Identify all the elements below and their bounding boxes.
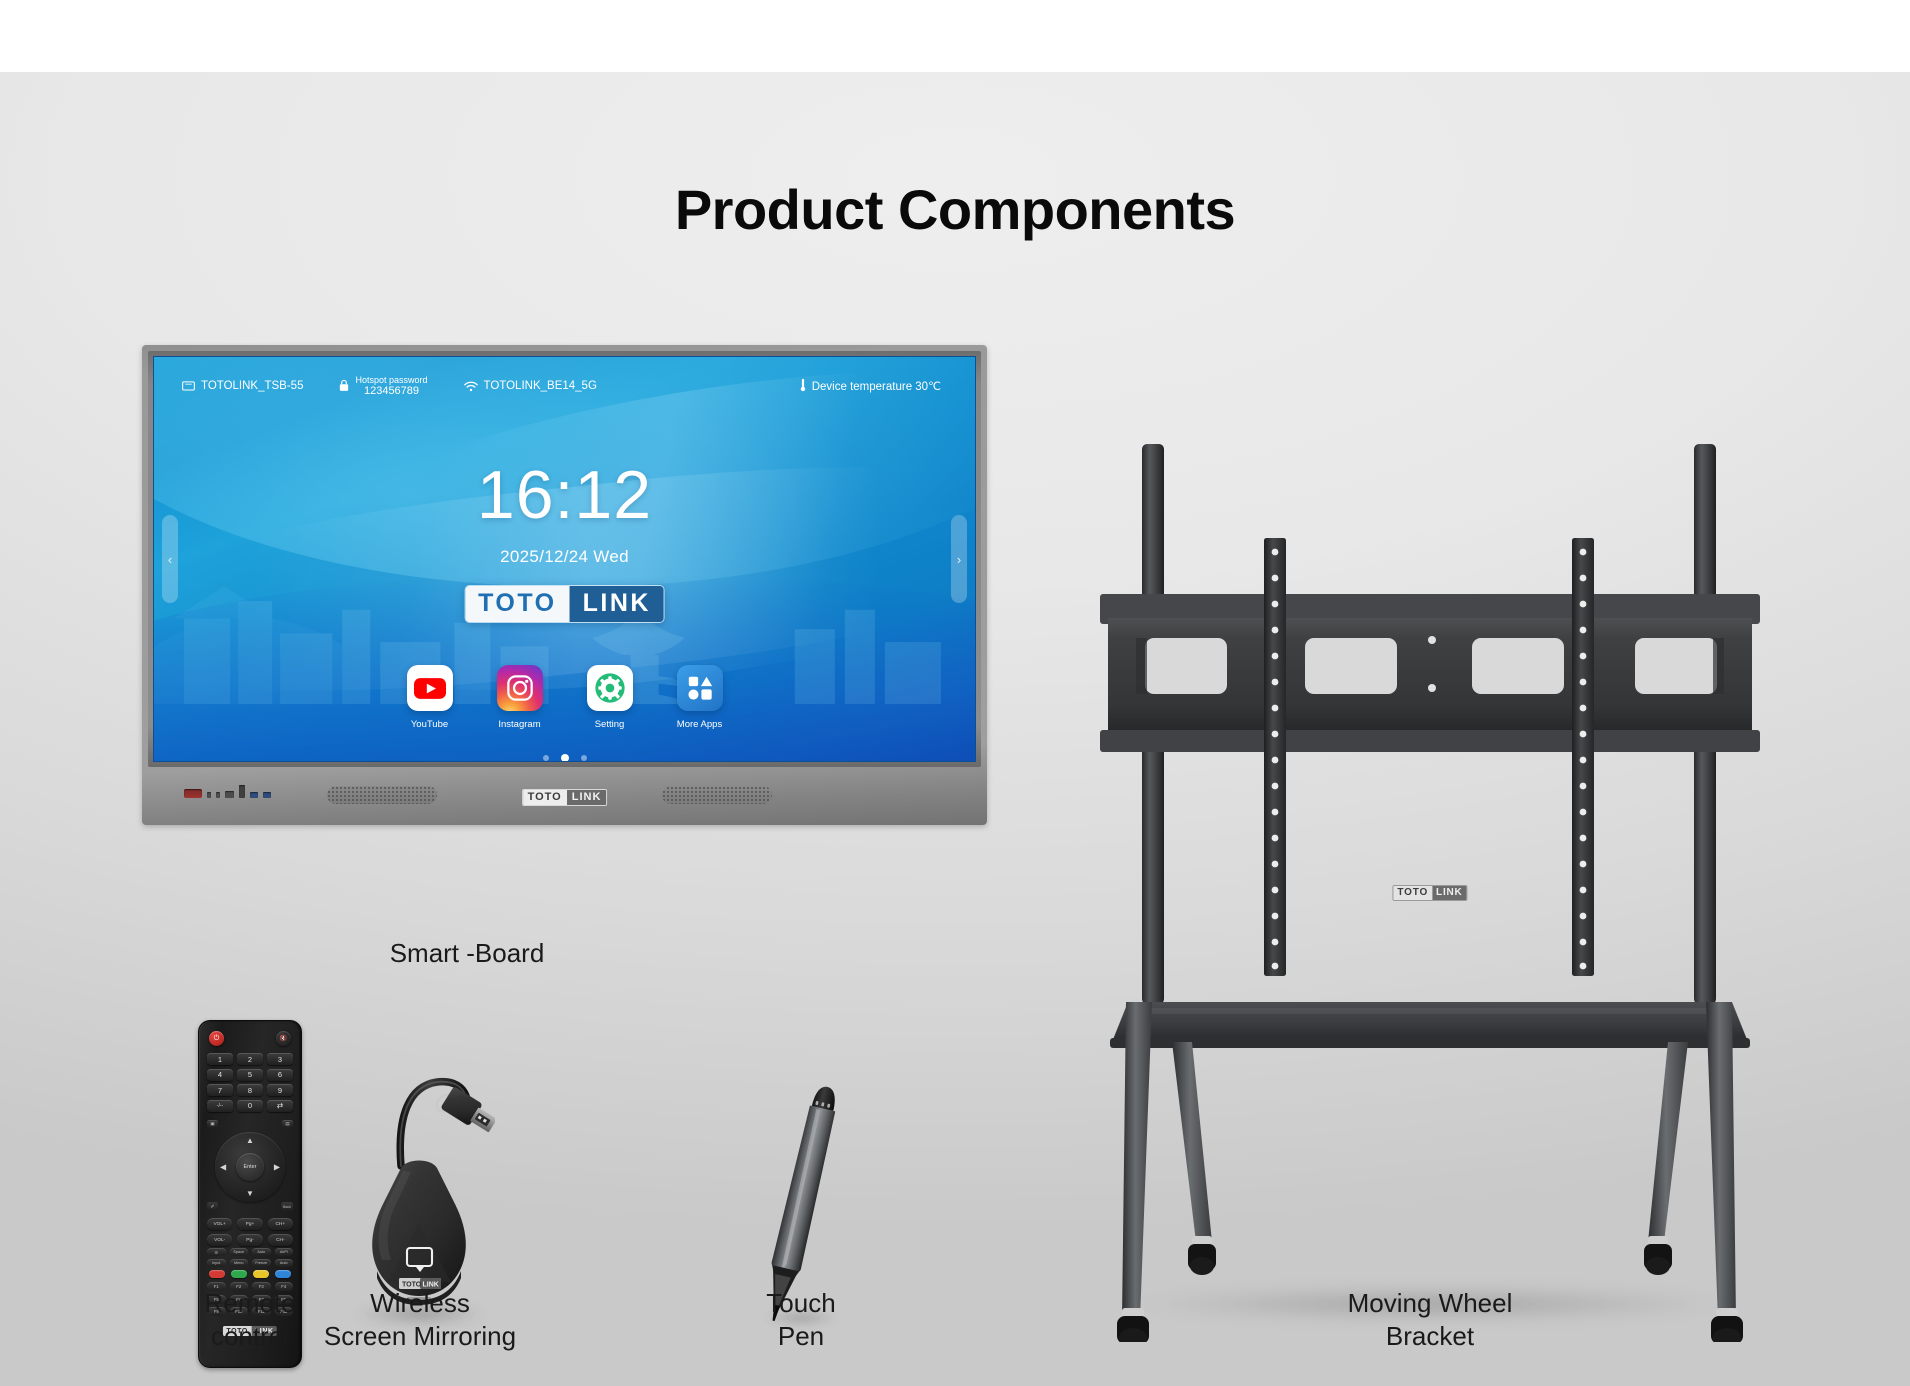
usb-port-2 [263,792,271,798]
bezel-logo-toto: TOTO [523,790,567,805]
wifi-icon [464,381,478,392]
remote-key-3[interactable]: 3 [267,1053,293,1065]
app-setting[interactable]: Setting [579,665,641,730]
remote-key-0[interactable]: 0 [237,1100,263,1112]
page-title: Product Components [0,177,1910,242]
chevron-right-icon: › [957,552,961,567]
remote-page-down[interactable]: Pg- [237,1234,262,1246]
moving-wheel-bracket-device: TOTO LINK [1100,442,1760,1342]
status-wifi: TOTOLINK_BE14_5G [464,380,597,392]
bracket-leg-back-right [1706,1002,1736,1320]
remote-key-swap[interactable]: ⇄ [267,1100,293,1112]
smart-board-screen[interactable]: TOTOLINK_TSB-55 Hotspot password 1234567… [153,356,976,762]
gear-icon [587,665,633,711]
status-temperature: Device temperature 30℃ [800,378,941,395]
status-device-name: TOTOLINK_TSB-55 [182,380,303,392]
status-hotspot-label: Hotspot password [355,375,427,385]
status-temperature-label: Device temperature 30℃ [812,379,941,393]
screen-clock: 16:12 2025/12/24 Wed [154,461,975,567]
screen-side-handle-left[interactable]: ‹ [162,515,178,603]
clock-date: 2025/12/24 Wed [154,547,975,567]
remote-airplay-key[interactable]: AirPl [275,1248,294,1256]
screen-app-dock: YouTube Instagram [154,665,975,730]
remote-key-9[interactable]: 9 [267,1084,293,1096]
dpad-enter-button[interactable]: Enter [236,1153,264,1181]
remote-pen-button[interactable]: ✐ [207,1202,218,1211]
remote-key-4[interactable]: 4 [207,1069,233,1081]
color-button-yellow[interactable] [253,1270,269,1278]
smart-board-caption: Smart -Board [342,937,592,970]
remote-input-key[interactable]: Input [207,1259,226,1267]
remote-color-button-row [209,1270,291,1278]
app-instagram[interactable]: Instagram [489,665,551,730]
remote-ch-down[interactable]: CH- [268,1234,293,1246]
page-root: Product Components [0,0,1910,1386]
remote-key-dash[interactable]: -/-- [207,1100,233,1112]
page-dot-3[interactable] [581,755,587,761]
status-hotspot-password: 123456789 [364,385,419,397]
caster-front-left [1188,1236,1216,1275]
status-wifi-ssid: TOTOLINK_BE14_5G [484,380,597,392]
app-more-apps[interactable]: More Apps [669,665,731,730]
bezel-totolink-logo: TOTO LINK [522,789,608,806]
screen-page-dots [154,755,975,762]
color-button-green[interactable] [231,1270,247,1278]
screen-logo-link: LINK [570,586,664,622]
remote-small-right-button[interactable]: ▤ [282,1120,293,1128]
remote-function-row-top: ☰ Space Auto AirPl Input Menu Freeze Aut… [207,1248,293,1267]
small-port-1 [207,792,211,798]
vesa-rail-right [1572,538,1594,976]
youtube-icon [407,665,453,711]
remote-page-up[interactable]: Pg+ [237,1218,262,1230]
remote-freeze-key[interactable]: Freeze [252,1259,271,1267]
page-dot-1[interactable] [543,755,549,761]
remote-key-6[interactable]: 6 [267,1069,293,1081]
remote-mute-button[interactable]: 🔇 [276,1031,291,1046]
remote-vol-down[interactable]: VOL- [207,1234,232,1246]
remote-vol-ch-row: VOL+ Pg+ CH+ VOL- Pg- CH- [207,1218,293,1246]
remote-key-7[interactable]: 7 [207,1084,233,1096]
color-button-blue[interactable] [275,1270,291,1278]
app-youtube[interactable]: YouTube [399,665,461,730]
clock-time: 16:12 [154,461,975,529]
remote-menu2-key[interactable]: Menu [230,1259,249,1267]
screen-side-handle-right[interactable]: › [951,515,967,603]
hdmi-port [225,791,234,798]
status-hotspot: Hotspot password 123456789 [339,375,427,397]
bezel-logo-link: LINK [567,790,607,805]
bracket-totolink-logo: TOTO LINK [1392,885,1467,901]
product-stage: Product Components [0,72,1910,1386]
bracket-logo-link: LINK [1432,886,1467,900]
screen-logo-toto: TOTO [465,586,570,622]
remote-auto-key[interactable]: Auto [252,1248,271,1256]
small-port-2 [216,792,220,798]
remote-small-left-button[interactable]: ▣ [207,1120,218,1128]
dpad-left-icon[interactable]: ◀ [220,1163,226,1172]
remote-ch-up[interactable]: CH+ [268,1218,293,1230]
remote-key-1[interactable]: 1 [207,1053,233,1065]
speaker-grille-left [327,786,437,804]
remote-space-key[interactable]: Space [230,1248,249,1256]
smart-board-bottom-bezel: TOTO LINK [142,767,987,825]
status-device-name-label: TOTOLINK_TSB-55 [201,380,303,392]
dpad-right-icon[interactable]: ▶ [274,1163,280,1172]
bracket-center-hole-top [1428,636,1436,644]
smart-board-device: TOTOLINK_TSB-55 Hotspot password 1234567… [142,345,987,825]
touch-pen-caption: Touch Pen [676,1287,926,1354]
app-youtube-label: YouTube [411,719,448,730]
chevron-left-icon: ‹ [168,552,172,567]
dpad-up-icon[interactable]: ▲ [246,1136,254,1145]
remote-back-button[interactable]: Back [281,1202,293,1211]
moving-wheel-bracket-caption: Moving Wheel Bracket [1305,1287,1555,1354]
remote-numeric-keypad: 1 2 3 4 5 6 7 8 9 -/-- 0 ⇄ [207,1053,293,1112]
wireless-mirroring-caption: Wireless Screen Mirroring [285,1287,555,1354]
bracket-logo-toto: TOTO [1393,886,1432,900]
caster-front-right [1644,1236,1672,1275]
power-port [184,789,202,798]
dpad-down-icon[interactable]: ▼ [246,1189,254,1198]
screen-totolink-logo: TOTO LINK [464,585,665,623]
remote-dpad[interactable]: ▲ ▼ ◀ ▶ Enter [215,1132,285,1202]
monitor-icon [182,381,195,392]
speaker-grille-right [662,786,772,804]
remote-small-button-row: ▣ ▤ [207,1120,293,1128]
status-hotspot-block: Hotspot password 123456789 [355,375,427,397]
thermometer-icon [800,378,806,395]
remote-key-8[interactable]: 8 [237,1084,263,1096]
bracket-leg-back-left [1122,1002,1152,1320]
remote-power-button[interactable]: ⏻ [209,1031,224,1046]
remote-key-2[interactable]: 2 [237,1053,263,1065]
app-more-apps-label: More Apps [677,719,722,730]
touch-usb-port [239,785,245,798]
lock-icon [339,379,349,392]
bracket-leg-front-left [1172,1042,1212,1242]
bracket-leg-front-right [1648,1042,1688,1242]
usb-port-1 [250,792,258,798]
remote-auto2-key[interactable]: Auto [275,1259,294,1267]
remote-vol-up[interactable]: VOL+ [207,1218,232,1230]
more-apps-icon [677,665,723,711]
color-button-red[interactable] [209,1270,225,1278]
vesa-rail-left [1264,538,1286,976]
screen-status-bar: TOTOLINK_TSB-55 Hotspot password 1234567… [154,357,975,415]
app-instagram-label: Instagram [498,719,540,730]
app-setting-label: Setting [595,719,625,730]
io-port-cluster[interactable] [184,785,271,798]
bracket-center-hole-bottom [1428,684,1436,692]
remote-menu-key[interactable]: ☰ [207,1248,226,1256]
page-dot-2-active[interactable] [561,754,569,762]
bracket-bottom-lip [1100,730,1760,752]
remote-key-5[interactable]: 5 [237,1069,263,1081]
instagram-icon [497,665,543,711]
